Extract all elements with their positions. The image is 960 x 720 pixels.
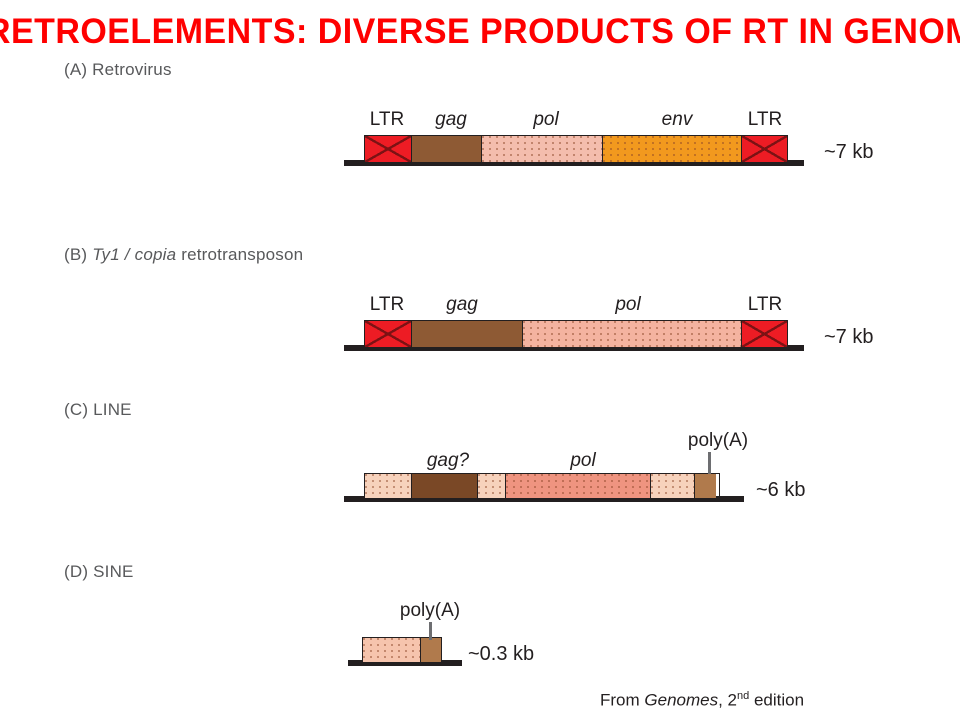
credit-source-title: Genomes xyxy=(644,691,718,710)
panel-label-b-suffix: retrotransposon xyxy=(176,245,303,264)
gene-label-a-ltr-left: LTR xyxy=(370,109,404,131)
segment-c-utr-left xyxy=(365,474,411,498)
segment-a-gag xyxy=(411,136,481,162)
size-label-a: ~7 kb xyxy=(824,141,873,164)
leader-line-d-polya xyxy=(429,622,432,640)
panel-label-c: (C) LINE xyxy=(64,400,132,420)
segment-b-ltr-left xyxy=(365,321,411,347)
callout-label-d-polya: poly(A) xyxy=(400,600,460,622)
gene-label-a-gag: gag xyxy=(435,109,467,131)
element-d-sine xyxy=(362,637,442,663)
segment-b-ltr-right xyxy=(741,321,787,347)
credit-superscript: nd xyxy=(737,690,749,702)
size-label-c: ~6 kb xyxy=(756,479,805,502)
panel-label-a: (A) Retrovirus xyxy=(64,60,172,80)
size-label-d: ~0.3 kb xyxy=(468,643,534,666)
segment-b-gag xyxy=(411,321,522,347)
credit-middle: , 2 xyxy=(718,691,737,710)
panel-label-b-italic: Ty1 / copia xyxy=(92,245,176,264)
leader-line-c-polya xyxy=(708,452,711,474)
segment-c-gag xyxy=(411,474,477,498)
gene-label-a-ltr-right: LTR xyxy=(748,109,782,131)
credit-prefix: From xyxy=(600,691,644,710)
element-c-line xyxy=(364,473,720,499)
segment-a-pol xyxy=(481,136,602,162)
retroelement-figure: (A) Retrovirus LTR gag pol env LTR ~7 kb… xyxy=(0,0,960,720)
gene-label-b-gag: gag xyxy=(446,294,478,316)
segment-c-polya xyxy=(694,474,716,498)
gene-label-a-pol: pol xyxy=(533,109,558,131)
callout-label-c-polya: poly(A) xyxy=(688,430,748,452)
panel-label-d: (D) SINE xyxy=(64,562,134,582)
gene-label-c-gag: gag? xyxy=(427,450,469,472)
segment-d-body xyxy=(363,638,420,662)
segment-b-pol xyxy=(522,321,741,347)
size-label-b: ~7 kb xyxy=(824,326,873,349)
segment-d-polya xyxy=(420,638,441,662)
element-b-ty1-copia xyxy=(364,320,788,348)
segment-c-pol xyxy=(505,474,650,498)
segment-c-utr-right xyxy=(650,474,694,498)
segment-c-spacer xyxy=(477,474,505,498)
panel-label-b-prefix: (B) xyxy=(64,245,92,264)
segment-a-ltr-left xyxy=(365,136,411,162)
segment-a-env xyxy=(602,136,741,162)
panel-label-b: (B) Ty1 / copia retrotransposon xyxy=(64,245,303,265)
segment-a-ltr-right xyxy=(741,136,787,162)
source-credit: From Genomes, 2nd edition xyxy=(600,690,804,711)
gene-label-c-pol: pol xyxy=(570,450,595,472)
gene-label-a-env: env xyxy=(662,109,693,131)
gene-label-b-pol: pol xyxy=(615,294,640,316)
credit-suffix: edition xyxy=(749,691,804,710)
gene-label-b-ltr-right: LTR xyxy=(748,294,782,316)
element-a-retrovirus xyxy=(364,135,788,163)
gene-label-b-ltr-left: LTR xyxy=(370,294,404,316)
